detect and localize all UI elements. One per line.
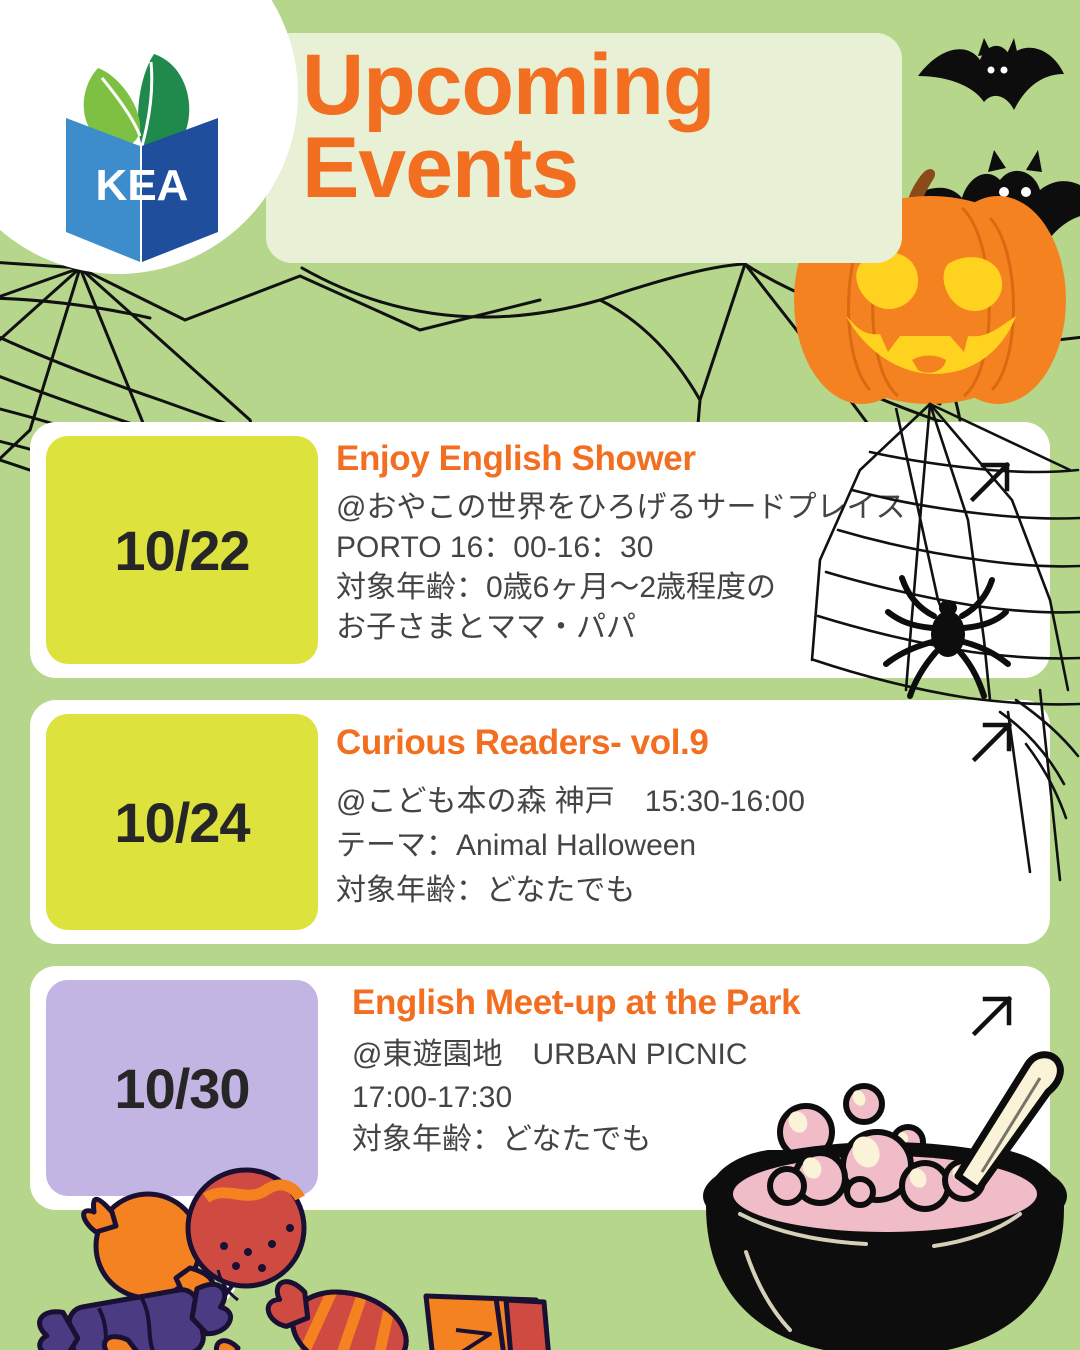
event-title: Enjoy English Shower [336,438,1010,480]
poster-header: KEA Upcoming Events [0,0,1080,300]
event-title: Curious Readers- vol.9 [336,722,1010,764]
event-poster: KEA Upcoming Events [0,0,1080,1350]
arrow-up-right-icon[interactable] [970,992,1016,1038]
event-card-body: Enjoy English Shower @おやこの世界をひろげるサードプレイス… [336,438,1010,648]
event-card[interactable]: 10/22 Enjoy English Shower @おやこの世界をひろげるサ… [30,422,1050,678]
event-details: @東遊園地 URBAN PICNIC 17:00-17:30 対象年齢：どなたで… [352,1034,1010,1162]
page-title: Upcoming Events [302,44,922,209]
event-title: English Meet-up at the Park [352,982,1010,1024]
event-details: @こども本の森 神戸 15:30-16:00 テーマ：Animal Hallow… [336,780,1010,913]
event-card[interactable]: 10/24 Curious Readers- vol.9 @こども本の森 神戸 … [30,700,1050,944]
event-date-badge: 10/22 [46,436,318,664]
arrow-up-right-icon[interactable] [970,718,1016,764]
event-date-badge: 10/30 [46,980,318,1196]
event-card-body: Curious Readers- vol.9 @こども本の森 神戸 15:30-… [336,722,1010,913]
arrow-up-right-icon[interactable] [968,458,1014,504]
event-card[interactable]: 10/30 English Meet-up at the Park @東遊園地 … [30,966,1050,1210]
logo-text: KEA [96,161,189,210]
event-date-badge: 10/24 [46,714,318,930]
book-with-leaves-logo: KEA [62,50,222,270]
event-details: @おやこの世界をひろげるサードプレイス PORTO 16：00-16：30 対象… [336,488,1010,648]
event-card-body: English Meet-up at the Park @東遊園地 URBAN … [352,982,1010,1162]
